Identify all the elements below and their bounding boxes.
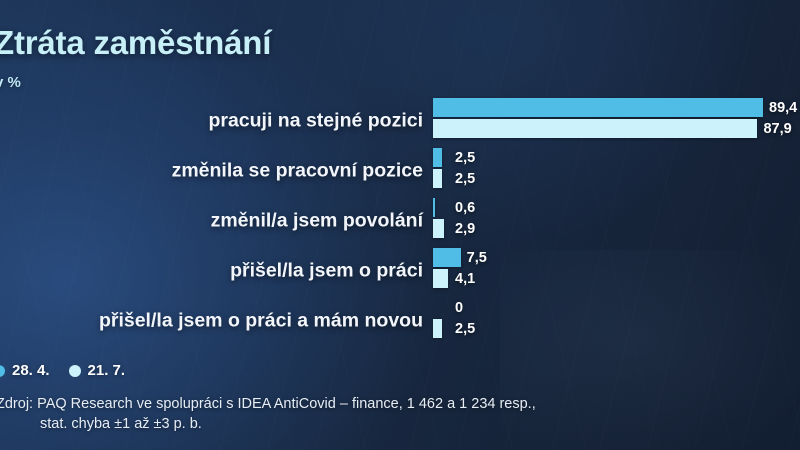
- chart-row: přišel/la jsem o práci a mám novou02,5: [0, 296, 800, 346]
- bar-value-label: 2,5: [455, 150, 475, 166]
- bar-wrapper: 2,5: [433, 169, 800, 188]
- chart-row: změnila se pracovní pozice2,52,5: [0, 146, 800, 196]
- bar-217-series[interactable]: [433, 269, 448, 288]
- bar-group: 02,5: [433, 296, 800, 346]
- bar-217-series[interactable]: [433, 119, 757, 138]
- category-label: změnil/a jsem povolání: [211, 210, 423, 233]
- source-note: Zdroj: PAQ Research ve spolupráci s IDEA…: [0, 394, 786, 434]
- bar-wrapper: 0,6: [433, 198, 800, 217]
- bar-217-series[interactable]: [433, 169, 442, 188]
- bar-group: 2,52,5: [433, 146, 800, 196]
- legend-swatch-dot-icon: [0, 365, 5, 377]
- bar-chart-plot: pracuji na stejné pozici89,487,9změnila …: [0, 96, 800, 348]
- bar-wrapper: 0: [433, 298, 800, 317]
- legend-label: 28. 4.: [12, 362, 50, 379]
- bar-value-label: 7,5: [467, 250, 487, 266]
- chart-slide: Ztráta zaměstnání v % pracuji na stejné …: [0, 0, 800, 450]
- bar-284-series[interactable]: [433, 98, 763, 117]
- bar-284-series[interactable]: [433, 198, 435, 217]
- chart-row: změnil/a jsem povolání0,62,9: [0, 196, 800, 246]
- source-note-line-1: Zdroj: PAQ Research ve spolupráci s IDEA…: [0, 394, 786, 414]
- bar-wrapper: 89,4: [433, 98, 800, 117]
- bar-217-series[interactable]: [433, 319, 442, 338]
- source-note-line-2: stat. chyba ±1 až ±3 p. b.: [0, 414, 786, 434]
- chart-row: pracuji na stejné pozici89,487,9: [0, 96, 800, 146]
- bar-value-label: 0: [455, 300, 463, 316]
- legend-item[interactable]: 28. 4.: [0, 362, 50, 379]
- bar-284-series[interactable]: [433, 148, 442, 167]
- category-label: přišel/la jsem o práci a mám novou: [99, 310, 423, 333]
- bar-217-series[interactable]: [433, 219, 444, 238]
- bar-group: 7,54,1: [433, 246, 800, 296]
- legend-item[interactable]: 21. 7.: [69, 362, 126, 379]
- chart-unit-subtitle: v %: [0, 74, 21, 91]
- bar-wrapper: 2,5: [433, 148, 800, 167]
- bar-wrapper: 2,9: [433, 219, 800, 238]
- chart-legend: 28. 4.21. 7.: [0, 362, 125, 379]
- category-label: pracuji na stejné pozici: [208, 110, 423, 133]
- legend-label: 21. 7.: [88, 362, 126, 379]
- bar-wrapper: 4,1: [433, 269, 800, 288]
- bar-value-label: 2,5: [455, 321, 475, 337]
- bar-value-label: 2,5: [455, 171, 475, 187]
- bar-value-label: 2,9: [455, 221, 475, 237]
- bar-value-label: 89,4: [769, 100, 797, 116]
- bar-value-label: 4,1: [455, 271, 475, 287]
- page-title: Ztráta zaměstnání: [0, 24, 271, 62]
- chart-row: přišel/la jsem o práci7,54,1: [0, 246, 800, 296]
- bar-wrapper: 2,5: [433, 319, 800, 338]
- category-label: přišel/la jsem o práci: [230, 260, 423, 283]
- legend-swatch-dot-icon: [69, 365, 81, 377]
- bar-284-series[interactable]: [433, 248, 461, 267]
- bar-group: 0,62,9: [433, 196, 800, 246]
- bar-group: 89,487,9: [433, 96, 800, 146]
- bar-value-label: 0,6: [455, 200, 475, 216]
- bar-wrapper: 7,5: [433, 248, 800, 267]
- bar-value-label: 87,9: [763, 121, 791, 137]
- bar-wrapper: 87,9: [433, 119, 800, 138]
- category-label: změnila se pracovní pozice: [172, 160, 423, 183]
